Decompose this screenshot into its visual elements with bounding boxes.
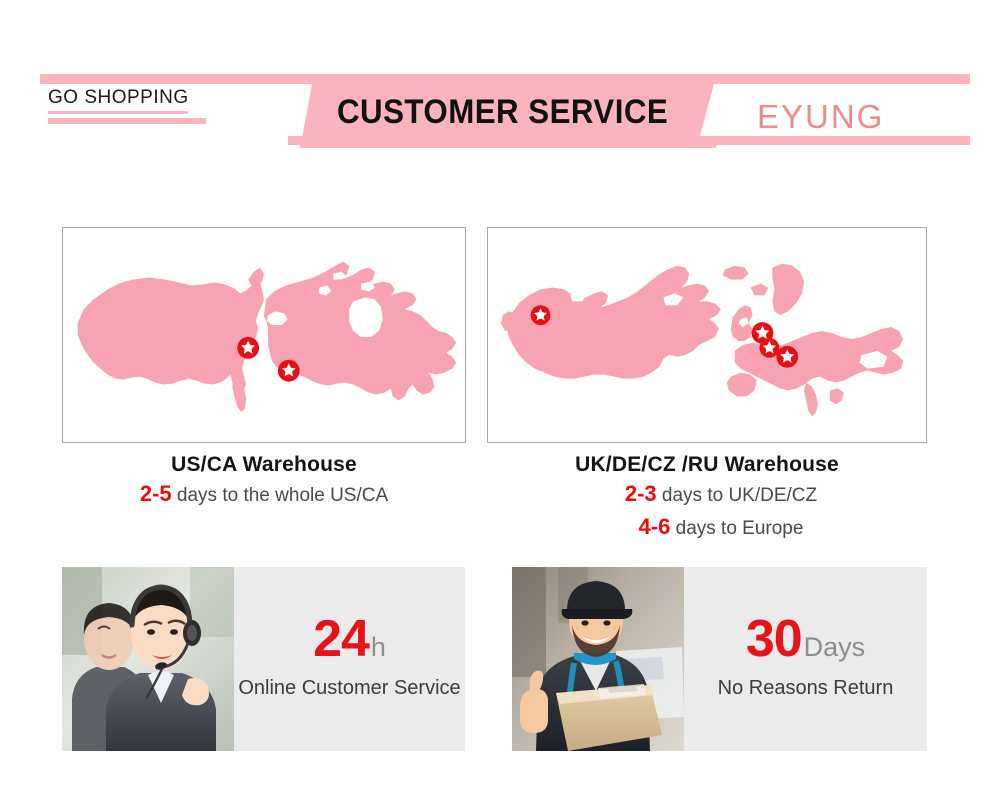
warehouse-title: US/CA Warehouse [62,452,466,478]
service-number: 30 [746,613,802,665]
italy-peninsula [804,383,818,417]
warehouse-delivery-line: 4-6 days to Europe [487,511,927,544]
online-customer-service-card: 24 h Online Customer Service [62,567,465,751]
call-center-agents-photo [62,567,234,751]
delivery-days-text: days to the whole US/CA [177,485,388,506]
delivery-days-text: days to UK/DE/CZ [662,485,817,506]
brand-logo-text: EYUNG [757,98,884,136]
delivery-courier-photo [512,567,684,751]
marker-de [760,338,780,358]
russia-inlet-2 [608,283,628,295]
warehouse-delivery-line: 2-3 days to UK/DE/CZ [487,478,927,511]
balkans-tail [830,389,844,405]
header-bottom-pink-bar [288,136,970,145]
service-card-text: 30 Days No Reasons Return [684,567,927,751]
page-title: CUSTOMER SERVICE [337,93,668,132]
marker-canada-west [278,360,300,382]
service-caption: Online Customer Service [238,677,460,700]
europe-russia-map-graphic [488,228,926,442]
warehouse-delivery-line: 2-5 days to the whole US/CA [62,478,466,511]
iberia-peninsula [727,373,757,397]
us-canada-separation [256,317,268,367]
delivery-days-value: 2-3 [625,481,657,506]
service-unit: h [371,634,386,661]
small-isle [751,283,769,295]
marker-russia-moscow [531,305,551,325]
scandinavia-landmass [772,264,804,316]
go-shopping-label[interactable]: GO SHOPPING [48,87,189,109]
usa-northeast [248,268,264,286]
europe-russia-map-panel [487,227,927,443]
service-stat: 24 h [313,613,386,665]
service-number: 24 [313,613,369,665]
us-ca-map-graphic [63,228,465,442]
marker-cz [776,346,798,368]
delivery-days-value: 4-6 [639,514,671,539]
service-caption: No Reasons Return [718,677,894,700]
marker-us-east [237,337,259,359]
delivery-days-text: days to Europe [676,518,804,539]
hudson-bay-cutout [349,297,383,337]
service-card-text: 24 h Online Customer Service [234,567,465,751]
go-shopping-underline-thick [48,118,206,124]
warehouse-title: UK/DE/CZ /RU Warehouse [487,452,927,478]
us-ca-map-panel [62,227,466,443]
iceland-landmass [723,266,749,280]
baltic-sea-cutout [794,313,818,331]
europe-warehouse-caption: UK/DE/CZ /RU Warehouse 2-3 days to UK/DE… [487,452,927,544]
go-shopping-underline-thin [48,111,188,114]
no-reasons-return-card: 30 Days No Reasons Return [512,567,927,751]
delivery-days-value: 2-5 [140,481,172,506]
page-header: GO SHOPPING CUSTOMER SERVICE EYUNG [0,0,1000,180]
us-ca-warehouse-caption: US/CA Warehouse 2-5 days to the whole US… [62,452,466,511]
service-unit: Days [804,634,866,661]
service-stat: 30 Days [746,613,865,665]
